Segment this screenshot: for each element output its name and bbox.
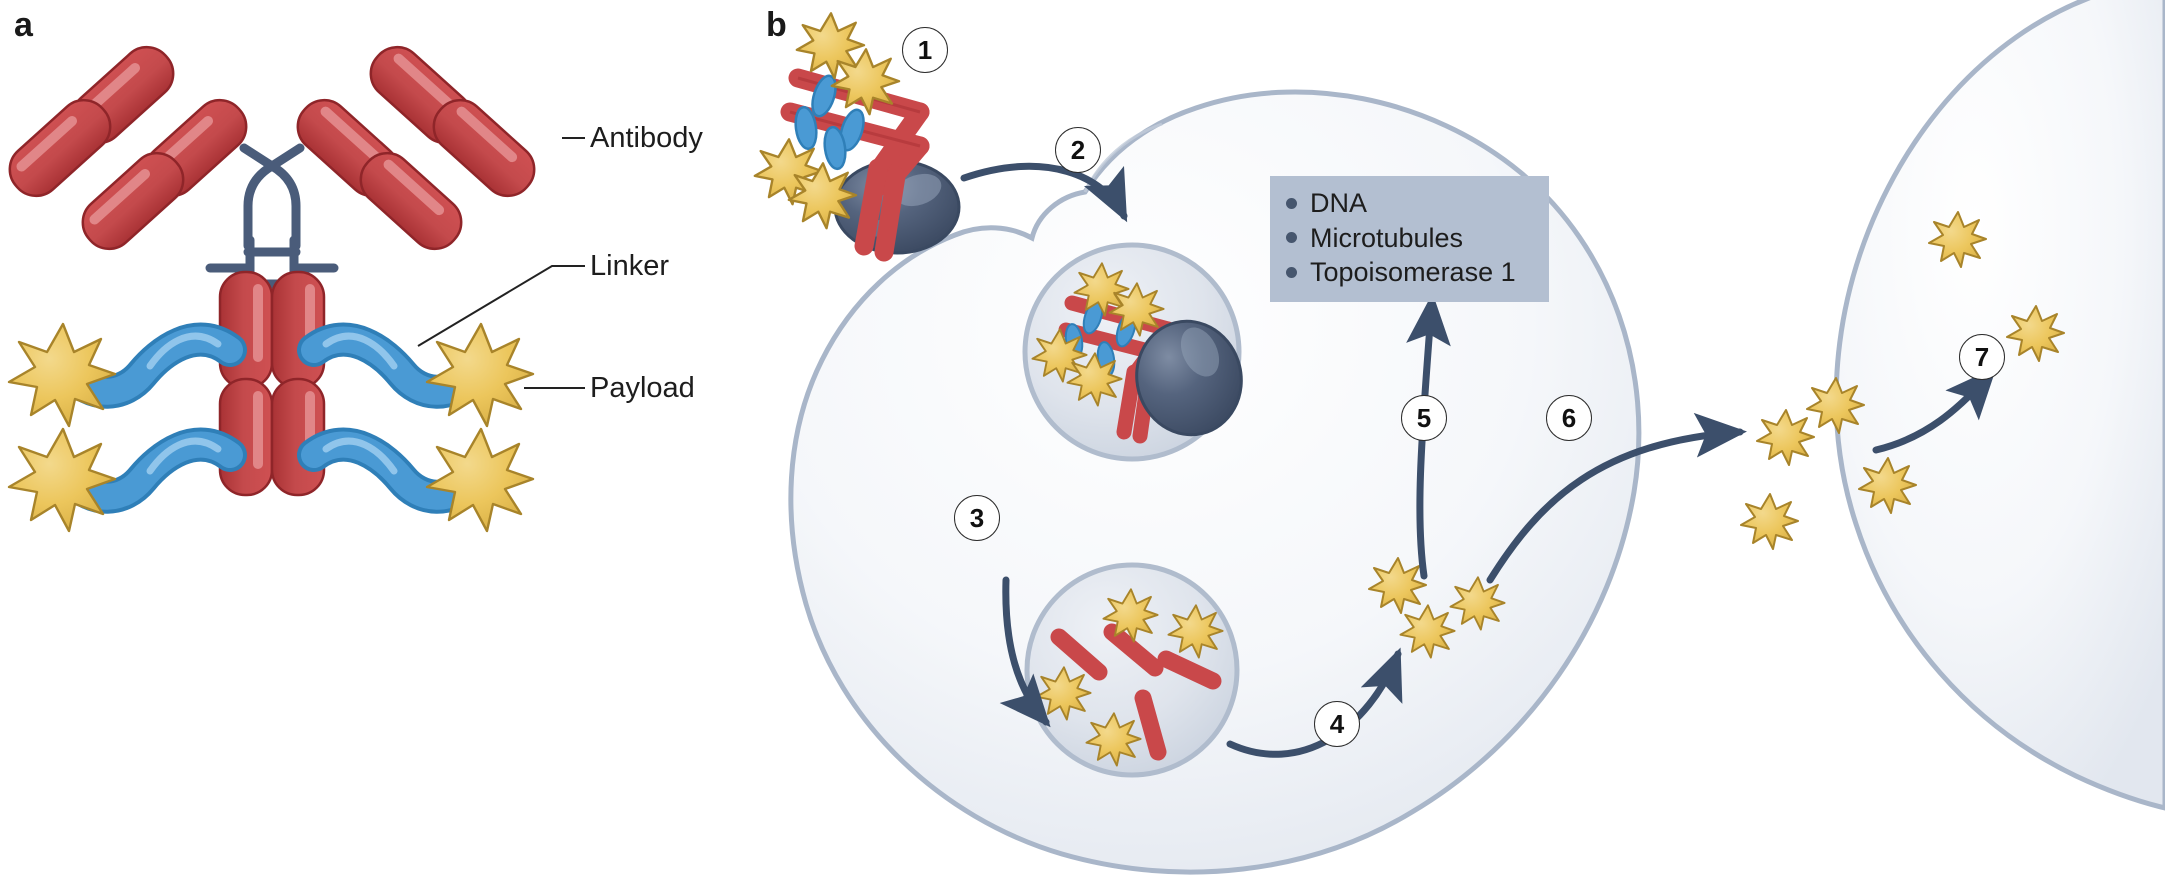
step-badge-1: 1 bbox=[902, 27, 948, 73]
step-badge-4: 4 bbox=[1314, 701, 1360, 747]
legend-item: DNA bbox=[1286, 186, 1531, 221]
payload-target-legend: DNA Microtubules Topoisomerase 1 bbox=[1270, 176, 1549, 302]
figure-root: a bbox=[0, 0, 2165, 881]
neighbour-cell-membrane bbox=[1836, 0, 2165, 808]
legend-label: Topoisomerase 1 bbox=[1310, 255, 1516, 290]
legend-label: Microtubules bbox=[1310, 221, 1463, 256]
legend-item: Microtubules bbox=[1286, 221, 1531, 256]
bullet-icon bbox=[1286, 267, 1297, 278]
step-badge-5: 5 bbox=[1401, 395, 1447, 441]
lysosome-vesicle bbox=[1027, 565, 1237, 775]
step-badge-2: 2 bbox=[1055, 127, 1101, 173]
legend-item: Topoisomerase 1 bbox=[1286, 255, 1531, 290]
bullet-icon bbox=[1286, 198, 1297, 209]
step-badge-6: 6 bbox=[1546, 395, 1592, 441]
step-badge-7: 7 bbox=[1959, 334, 2005, 380]
bullet-icon bbox=[1286, 232, 1297, 243]
legend-label: DNA bbox=[1310, 186, 1367, 221]
step-badge-3: 3 bbox=[954, 495, 1000, 541]
